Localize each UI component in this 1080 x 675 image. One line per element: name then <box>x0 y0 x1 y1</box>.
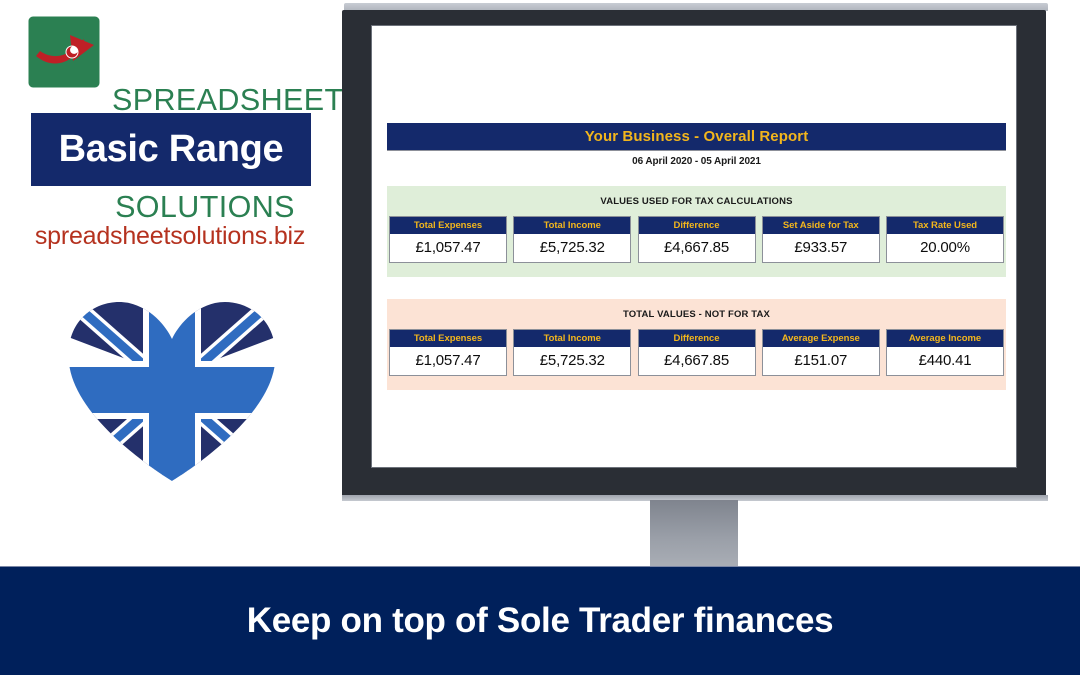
stat-cell-tax-rate-used[interactable]: Tax Rate Used 20.00% <box>886 216 1004 263</box>
stat-cell-value: £4,667.85 <box>639 234 755 262</box>
stat-cell-value: £5,725.32 <box>514 347 630 375</box>
stat-cell-total-income-tax[interactable]: Total Income £5,725.32 <box>513 216 631 263</box>
stat-cell-header: Average Expense <box>763 330 879 347</box>
spreadsheet-report: Your Business - Overall Report 06 April … <box>387 123 1006 390</box>
stat-cell-value: £1,057.47 <box>390 347 506 375</box>
stat-cell-value: £151.07 <box>763 347 879 375</box>
stat-cell-value: 20.00% <box>887 234 1003 262</box>
bottom-banner: Keep on top of Sole Trader finances <box>0 567 1080 675</box>
report-title-bar: Your Business - Overall Report <box>387 123 1006 151</box>
stat-cell-average-income[interactable]: Average Income £440.41 <box>886 329 1004 376</box>
product-range-badge: Basic Range <box>31 113 311 186</box>
product-range-label: Basic Range <box>59 128 284 171</box>
stat-cell-header: Tax Rate Used <box>887 217 1003 234</box>
stat-cell-value: £5,725.32 <box>514 234 630 262</box>
stat-cell-header: Difference <box>639 330 755 347</box>
union-jack-heart-icon <box>63 295 281 485</box>
stat-cell-value: £440.41 <box>887 347 1003 375</box>
stat-cell-average-expense[interactable]: Average Expense £151.07 <box>762 329 880 376</box>
stat-cell-header: Set Aside for Tax <box>763 217 879 234</box>
stat-cell-header: Total Income <box>514 330 630 347</box>
stat-cell-total-expenses[interactable]: Total Expenses £1,057.47 <box>389 329 507 376</box>
stat-cell-header: Total Expenses <box>390 330 506 347</box>
panel-tax-heading: VALUES USED FOR TAX CALCULATIONS <box>387 196 1006 216</box>
stat-cell-difference[interactable]: Difference £4,667.85 <box>638 329 756 376</box>
brand-logo: SPREADSHEET SOLUTIONS <box>28 14 310 96</box>
stat-cell-set-aside-for-tax[interactable]: Set Aside for Tax £933.57 <box>762 216 880 263</box>
left-branding-panel: SPREADSHEET SOLUTIONS Basic Range spread… <box>0 0 340 567</box>
banner-tagline: Keep on top of Sole Trader finances <box>247 601 834 641</box>
stat-cell-header: Total Income <box>514 217 630 234</box>
panel-tax-values: VALUES USED FOR TAX CALCULATIONS Total E… <box>387 186 1006 277</box>
website-url[interactable]: spreadsheetsolutions.biz <box>0 222 340 251</box>
report-date-range: 06 April 2020 - 05 April 2021 <box>387 151 1006 167</box>
stat-cell-value: £933.57 <box>763 234 879 262</box>
stat-cell-total-expenses-tax[interactable]: Total Expenses £1,057.47 <box>389 216 507 263</box>
monitor-mockup: Your Business - Overall Report 06 April … <box>336 3 1048 503</box>
panel-tax-cells-row: Total Expenses £1,057.47 Total Income £5… <box>387 216 1006 263</box>
stat-cell-header: Total Expenses <box>390 217 506 234</box>
stat-cell-header: Average Income <box>887 330 1003 347</box>
report-title: Your Business - Overall Report <box>585 128 809 145</box>
panel-total-cells-row: Total Expenses £1,057.47 Total Income £5… <box>387 329 1006 376</box>
monitor-screen: Your Business - Overall Report 06 April … <box>371 25 1017 468</box>
stat-cell-difference-tax[interactable]: Difference £4,667.85 <box>638 216 756 263</box>
stat-cell-header: Difference <box>639 217 755 234</box>
stat-cell-total-income[interactable]: Total Income £5,725.32 <box>513 329 631 376</box>
panel-total-values: TOTAL VALUES - NOT FOR TAX Total Expense… <box>387 299 1006 390</box>
brand-wordmark-line-2: SOLUTIONS <box>112 190 312 226</box>
spreadsheet-solutions-logo-icon <box>28 16 100 88</box>
panel-total-heading: TOTAL VALUES - NOT FOR TAX <box>387 309 1006 329</box>
stat-cell-value: £1,057.47 <box>390 234 506 262</box>
stat-cell-value: £4,667.85 <box>639 347 755 375</box>
